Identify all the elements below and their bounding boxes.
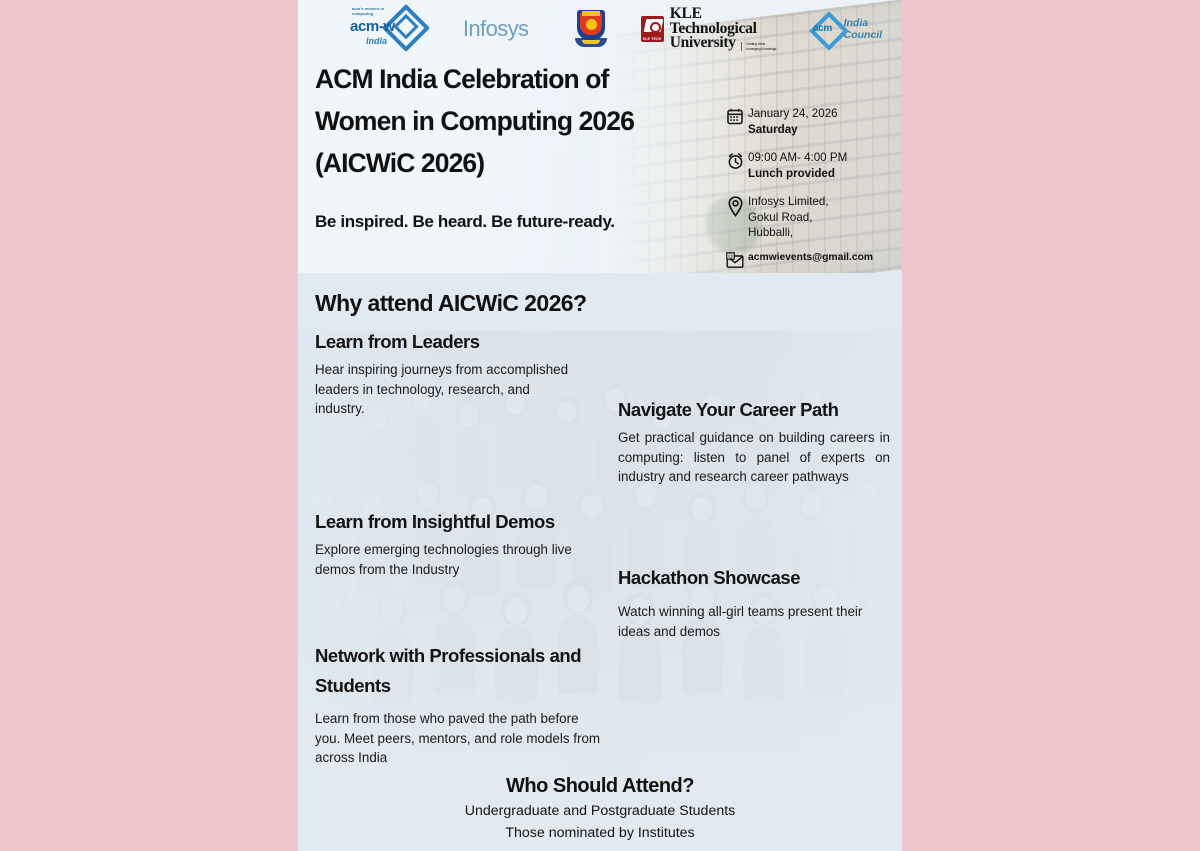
venue-line-3: Hubballi, (748, 225, 829, 241)
kle-motto: Creating Value, Leveraging Knowledge (741, 42, 778, 51)
infosys-logo: Infosys (463, 16, 529, 42)
acm-w-tagline: acm's women in computing (352, 7, 394, 16)
benefit-text: Learn from those who paved the path befo… (315, 709, 605, 768)
kle-line-2-text: University (670, 36, 736, 51)
infosys-wordmark: Infosys (463, 16, 529, 42)
benefit-block-navigate-career-path: Navigate Your Career Path Get practical … (618, 395, 890, 487)
poster-header: acm's women in computing acm-w India Inf… (298, 0, 902, 273)
kle-mark-label: KLE TECH (643, 37, 662, 41)
event-time: 09:00 AM- 4:00 PM (748, 150, 847, 166)
benefit-heading: Learn from Leaders (315, 327, 577, 356)
event-details: January 24, 2026 Saturday 0 (722, 106, 900, 273)
event-poster: acm's women in computing acm-w India Inf… (298, 0, 902, 851)
event-date: January 24, 2026 (748, 106, 838, 122)
detail-row-venue: Infosys Limited, Gokul Road, Hubballi, (722, 194, 900, 241)
benefit-heading: Navigate Your Career Path (618, 395, 890, 424)
svg-text:@: @ (728, 253, 733, 259)
detail-date-text: January 24, 2026 Saturday (748, 106, 838, 137)
venue-line-2: Gokul Road, (748, 210, 829, 226)
benefit-heading: Hackathon Showcase (618, 563, 890, 592)
event-email: acmwievents@gmail.com (748, 250, 873, 266)
acm-india-council-logo: acm India Council (812, 14, 902, 44)
detail-row-email: @ acmwievents@gmail.com (722, 250, 900, 269)
benefit-heading: Learn from Insightful Demos (315, 507, 607, 536)
detail-venue-text: Infosys Limited, Gokul Road, Hubballi, (748, 194, 829, 241)
who-should-attend-line-2: Those nominated by Institutes (298, 822, 902, 844)
poster-canvas: acm's women in computing acm-w India Inf… (0, 0, 1200, 851)
detail-row-date: January 24, 2026 Saturday (722, 106, 900, 137)
alarm-clock-icon (722, 150, 748, 170)
benefit-block-network-professionals: Network with Professionals and Students … (315, 641, 605, 768)
benefit-text: Get practical guidance on building caree… (618, 428, 890, 487)
crest-base-shape (575, 38, 607, 47)
title-line-3: (AICWiC 2026) (315, 142, 695, 184)
kle-line-2: University Creating Value, Leveraging Kn… (670, 36, 778, 51)
institute-crest-logo (574, 8, 604, 50)
event-day: Saturday (748, 122, 838, 138)
kle-technological-university-logo: KLE TECH KLE Technological University Cr… (641, 7, 778, 51)
poster-tagline: Be inspired. Be heard. Be future-ready. (315, 212, 615, 232)
email-envelope-icon: @ (722, 250, 748, 269)
section-title-why-attend: Why attend AICWiC 2026? (315, 290, 586, 317)
event-lunch-note: Lunch provided (748, 166, 847, 182)
sponsor-logo-strip: acm's women in computing acm-w India Inf… (298, 4, 902, 54)
benefit-text: Hear inspiring journeys from accomplishe… (315, 360, 577, 419)
acm-w-wordmark: acm-w (350, 18, 395, 35)
benefit-block-learn-from-leaders: Learn from Leaders Hear inspiring journe… (315, 327, 577, 419)
benefit-text: Watch winning all-girl teams present the… (618, 602, 890, 641)
acm-council-diamond-icon: acm (812, 14, 839, 44)
benefit-block-insightful-demos: Learn from Insightful Demos Explore emer… (315, 507, 607, 579)
benefit-block-hackathon-showcase: Hackathon Showcase Watch winning all-gir… (618, 563, 890, 641)
location-pin-icon (722, 194, 748, 217)
venue-line-1: Infosys Limited, (748, 194, 829, 210)
kle-wordmark: KLE Technological University Creating Va… (670, 7, 778, 51)
kle-mark-icon: KLE TECH (641, 16, 664, 42)
detail-time-text: 09:00 AM- 4:00 PM Lunch provided (748, 150, 847, 181)
kle-line-1: KLE Technological (670, 7, 778, 36)
title-line-1: ACM India Celebration of (315, 58, 695, 100)
acm-w-india-logo: acm's women in computing acm-w India (348, 6, 423, 52)
who-should-attend-line-1: Undergraduate and Postgraduate Students (298, 800, 902, 822)
acm-w-region-label: India (366, 36, 387, 46)
calendar-icon (722, 106, 748, 125)
poster-title: ACM India Celebration of Women in Comput… (315, 58, 695, 184)
who-should-attend-section: Who Should Attend? Undergraduate and Pos… (298, 775, 902, 844)
benefit-heading: Network with Professionals and Students (315, 641, 605, 701)
title-line-2: Women in Computing 2026 (315, 100, 695, 142)
crest-banner (582, 11, 600, 16)
acm-council-label: India Council (844, 17, 902, 41)
who-should-attend-heading: Who Should Attend? (298, 775, 902, 798)
benefit-text: Explore emerging technologies through li… (315, 540, 607, 579)
detail-row-time: 09:00 AM- 4:00 PM Lunch provided (722, 150, 900, 181)
acm-council-wordmark: acm (813, 23, 832, 34)
poster-body: Why attend AICWiC 2026? Learn from Leade… (298, 273, 902, 851)
